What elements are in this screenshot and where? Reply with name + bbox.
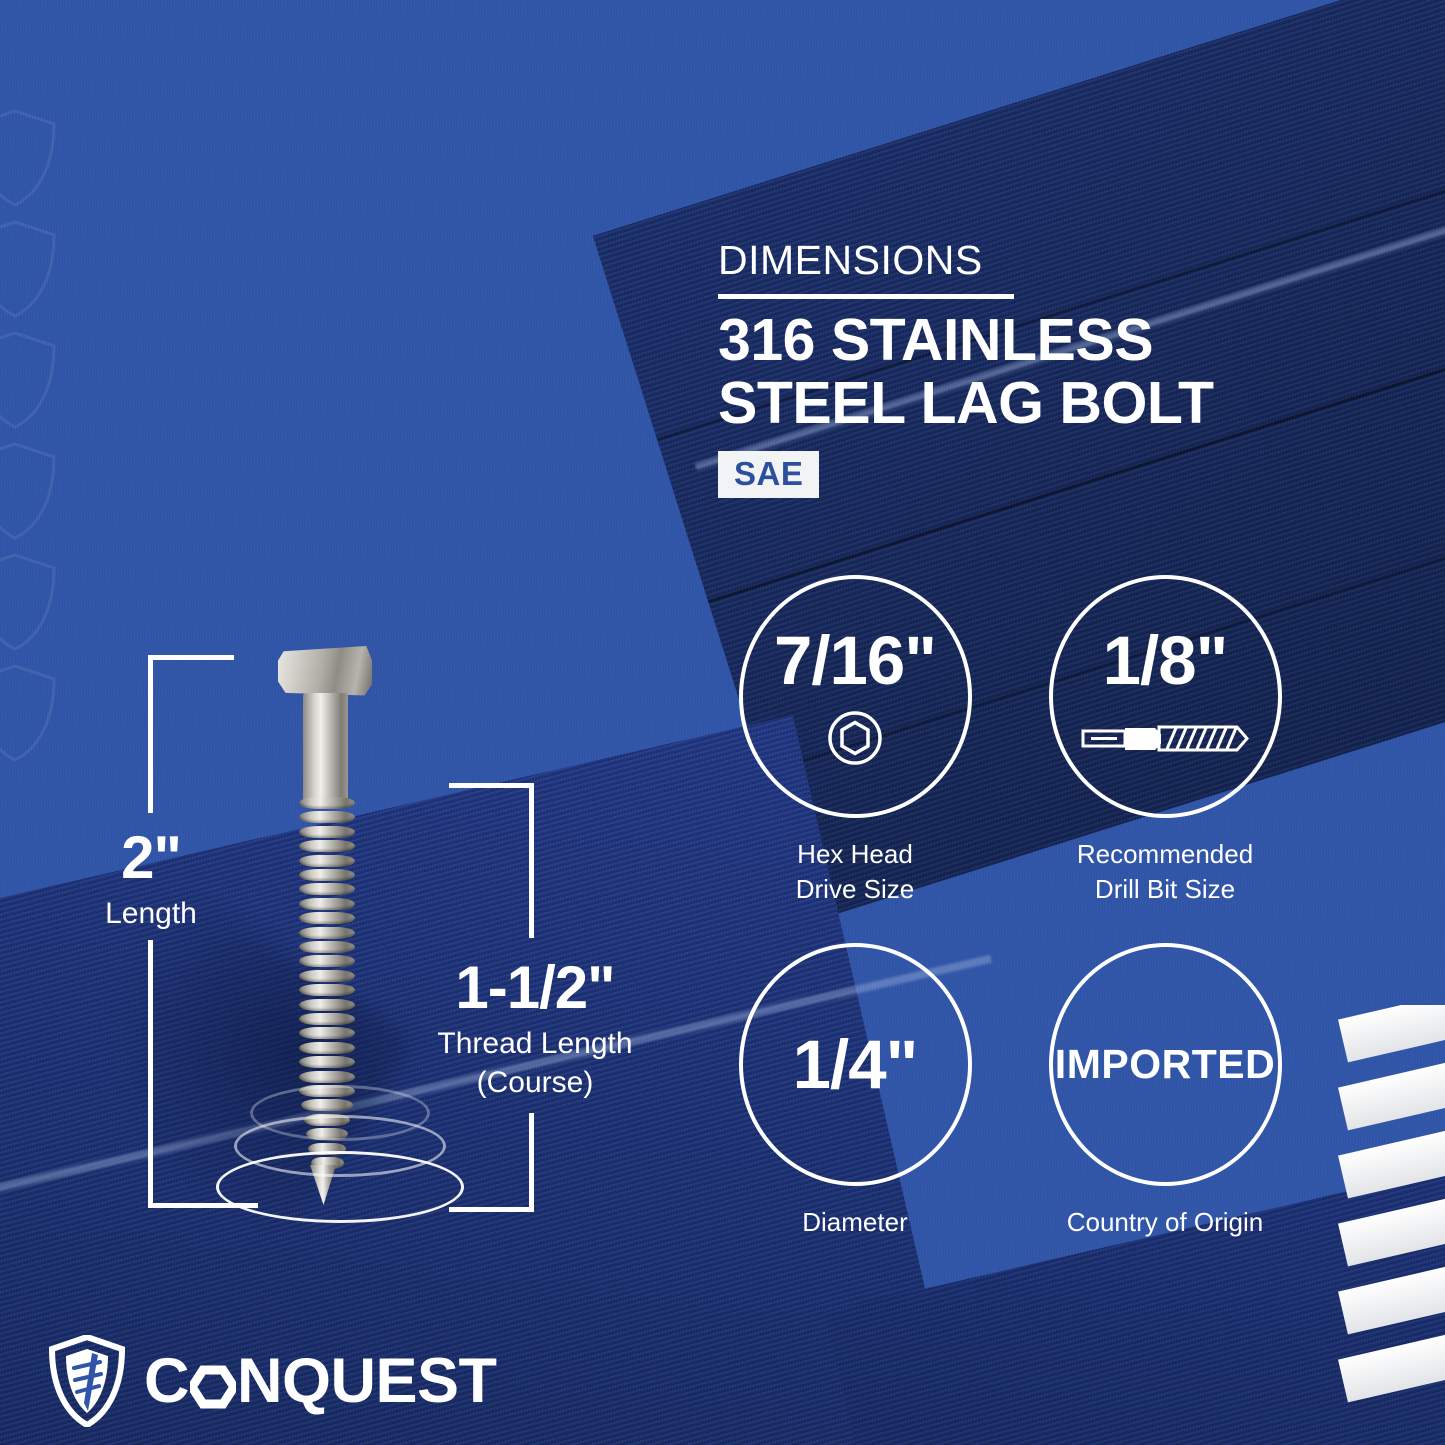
spec-caption: Country of Origin [1067,1205,1264,1240]
bolt-thread-turn [299,955,355,967]
bolt-thread-turn [299,970,355,982]
bolt-shank [303,693,348,803]
spec-caption-line2: Drill Bit Size [1077,872,1253,907]
length-caption: Length [68,894,234,933]
hex-socket-icon [826,709,884,767]
spec-caption: Diameter [802,1205,907,1240]
shield-watermark [0,663,58,763]
shield-watermark [0,108,58,208]
header-divider-rule [718,294,1014,299]
spec-value: 1/8" [1103,626,1228,695]
spec-value: IMPORTED [1055,1044,1275,1085]
spec-badge-circle: 7/16" [739,575,972,818]
thread-bracket-lower-stem [529,1113,534,1212]
bolt-thread-turn [299,1013,355,1025]
bolt-thread-turn [299,1056,355,1068]
spec-caption-line2: Drive Size [796,872,914,907]
bolt-thread-turn [299,941,355,953]
brand-wordmark-part2: NQUEST [237,1350,497,1413]
brand-wordmark: C NQUEST [144,1350,497,1413]
hex-o-icon [190,1358,236,1404]
tip-emphasis-ellipses [215,1085,465,1230]
spec-badge-country-of-origin: IMPORTEDCountry of Origin [1010,943,1320,1240]
spec-badge-recommended-drill-bit-size: 1/8"RecommendedDrill Bit Size [1010,575,1320,907]
spec-badge-circle: 1/8" [1049,575,1282,818]
bolt-thread-turn [299,1071,355,1083]
spec-caption-line1: Country of Origin [1067,1205,1264,1240]
spec-badge-circle: 1/4" [739,943,972,1186]
tip-ellipse [216,1151,464,1223]
bolt-hex-head [278,645,372,697]
spec-caption-line1: Hex Head [796,837,914,872]
brand-wordmark-part1: C [144,1350,189,1413]
bolt-thread-turn [299,927,355,939]
page-kicker: DIMENSIONS [718,240,1318,281]
length-value: 2" [68,828,234,888]
spec-caption-line1: Diameter [802,1205,907,1240]
infographic-canvas: DIMENSIONS 316 STAINLESS STEEL LAG BOLT … [0,0,1445,1445]
bolt-thread-turn [299,869,355,881]
spec-caption: Hex HeadDrive Size [796,837,914,907]
thread-length-label: 1-1/2" Thread Length (Course) [420,958,650,1102]
header-block: DIMENSIONS 316 STAINLESS STEEL LAG BOLT … [718,240,1318,498]
bolt-thread-turn [299,912,355,924]
length-bracket-top-tick [148,655,234,660]
length-bracket-upper-stem [148,655,153,813]
thread-bracket-top-tick [449,783,534,788]
thread-bracket-upper-stem [529,783,534,938]
shield-watermark [0,441,58,541]
badge-row-spacer [700,907,1320,943]
bolt-thread-turn [299,840,355,852]
bolt-thread-turn [299,855,355,867]
bolt-thread-turn [299,1042,355,1054]
spec-badge-circle: IMPORTED [1049,943,1282,1186]
shield-watermark [0,219,58,319]
spec-badge-row: 7/16"Hex HeadDrive Size1/8"RecommendedDr… [700,575,1320,907]
spec-badge-grid: 7/16"Hex HeadDrive Size1/8"RecommendedDr… [700,575,1320,1240]
shield-watermark [0,552,58,652]
spec-value: 7/16" [774,626,936,695]
spec-badge-diameter: 1/4"Diameter [700,943,1010,1240]
spec-value: 1/4" [793,1030,918,1099]
shield-screw-icon [48,1335,126,1427]
spec-caption: RecommendedDrill Bit Size [1077,837,1253,907]
spec-caption-line1: Recommended [1077,837,1253,872]
corner-stripe [1338,1005,1445,1062]
page-title-line1: 316 STAINLESS [718,309,1318,372]
length-label: 2" Length [68,828,234,933]
bolt-thread-turn [299,797,355,809]
bolt-thread-turn [299,984,355,996]
page-title-line2: STEEL LAG BOLT [718,372,1318,435]
bolt-thread-turn [299,811,355,823]
thread-length-caption-sub: (Course) [420,1063,650,1102]
standard-badge: SAE [718,451,819,498]
thread-length-value: 1-1/2" [420,958,650,1018]
thread-length-caption: Thread Length [420,1024,650,1063]
shield-watermark [0,330,58,430]
thread-bracket-bottom-tick [449,1207,534,1212]
bolt-thread-turn [299,1027,355,1039]
spec-badge-row: 1/4"DiameterIMPORTEDCountry of Origin [700,943,1320,1240]
length-bracket-lower-stem [148,940,153,1208]
bolt-thread-turn [299,883,355,895]
bolt-thread-turn [299,826,355,838]
brand-logo[interactable]: C NQUEST [48,1335,497,1427]
bolt-thread-turn [299,898,355,910]
bolt-thread-turn [299,999,355,1011]
spec-badge-hex-head-drive-size: 7/16"Hex HeadDrive Size [700,575,1010,907]
length-bracket-bottom-tick [148,1203,258,1208]
drill-bit-icon [1081,709,1249,767]
